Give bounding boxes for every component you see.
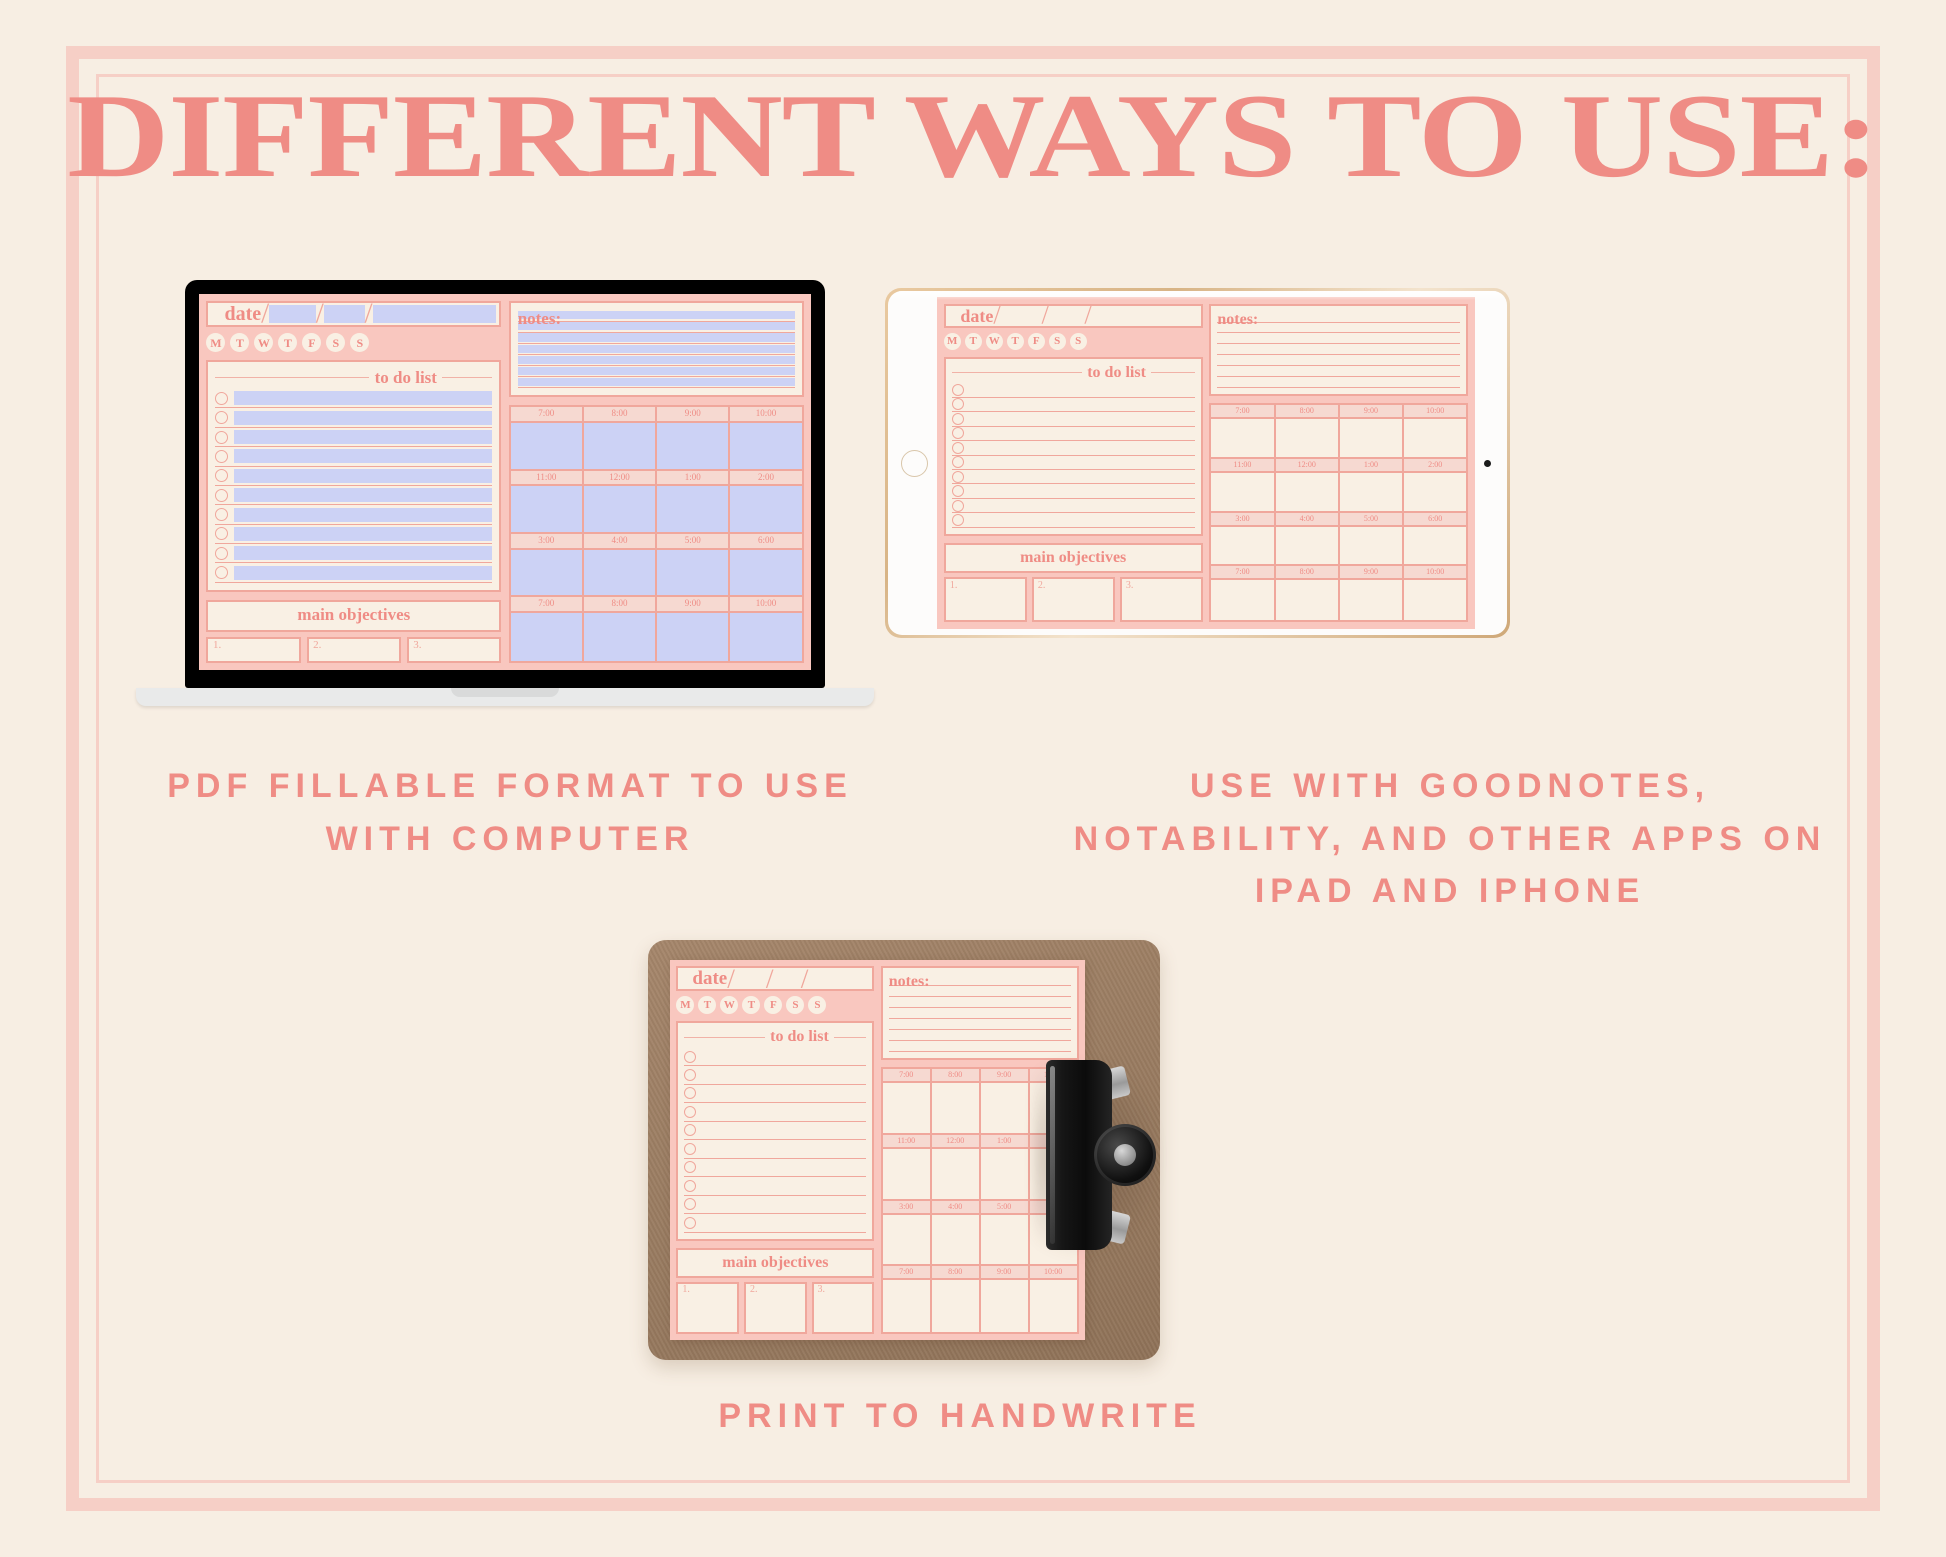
notes-line[interactable] (1217, 377, 1460, 388)
todo-row[interactable] (215, 447, 492, 466)
planner-left-column: date///MTWTFSSto do listmain objectives1… (676, 966, 874, 1333)
time-grid: 7:008:009:0010:0011:0012:001:002:003:004… (509, 405, 804, 662)
objective-number-2: 2. (1038, 581, 1046, 591)
todo-row[interactable] (684, 1140, 866, 1158)
todo-checkbox-icon[interactable] (952, 413, 964, 425)
time-label: 9:00 (1340, 405, 1404, 417)
date-year-input[interactable] (373, 305, 497, 323)
time-slot-input[interactable] (657, 613, 730, 661)
todo-checkbox-icon[interactable] (684, 1180, 696, 1192)
date-day-input[interactable] (1049, 308, 1085, 324)
time-slot-input[interactable] (1340, 580, 1404, 620)
time-slot-input[interactable] (1276, 419, 1340, 457)
todo-row[interactable] (215, 486, 492, 505)
time-slot-input[interactable] (657, 423, 730, 469)
time-slot-input[interactable] (1030, 1280, 1077, 1332)
notes-text-input[interactable] (518, 345, 795, 353)
time-slot-input[interactable] (981, 1280, 1030, 1332)
todo-text-input[interactable] (234, 430, 492, 444)
notes-line[interactable] (1217, 355, 1460, 366)
notes-line[interactable] (518, 366, 795, 377)
time-label: 12:00 (932, 1135, 981, 1147)
todo-list-title: to do list (375, 369, 437, 386)
notes-text-input[interactable] (1217, 345, 1460, 353)
todo-row[interactable] (952, 470, 1195, 484)
date-month-input[interactable] (735, 970, 766, 987)
notes-text-input[interactable] (518, 356, 795, 364)
todo-checkbox-icon[interactable] (684, 1106, 696, 1118)
notes-text-input[interactable] (518, 367, 795, 375)
planner-page: date///MTWTFSSto do listmain objectives1… (199, 294, 811, 670)
weekday-3[interactable]: T (1007, 333, 1024, 350)
time-label: 6:00 (1404, 513, 1466, 525)
notes-text-input[interactable] (889, 1020, 1071, 1028)
todo-row[interactable] (215, 467, 492, 486)
time-label: 4:00 (932, 1201, 981, 1213)
weekday-4[interactable]: F (764, 996, 782, 1014)
main-objectives-section: main objectives1.2.3. (676, 1248, 874, 1334)
todo-rows (215, 389, 492, 583)
todo-checkbox-icon[interactable] (684, 1051, 696, 1063)
todo-list-title: to do list (1087, 365, 1146, 381)
time-grid-cell-row (511, 550, 802, 598)
time-slot-input[interactable] (584, 486, 657, 532)
ipad-body: date///MTWTFSSto do listmain objectives1… (888, 291, 1507, 635)
time-label: 8:00 (932, 1266, 981, 1278)
time-slot-input[interactable] (1404, 473, 1466, 511)
time-label: 8:00 (1276, 566, 1340, 578)
weekday-0[interactable]: M (944, 333, 961, 350)
objective-number-3: 3. (818, 1285, 826, 1295)
time-slot-input[interactable] (1211, 527, 1275, 565)
time-slot-input[interactable] (932, 1280, 981, 1332)
date-month-input[interactable] (269, 305, 316, 323)
notes-line[interactable] (518, 333, 795, 344)
notes-title: notes: (889, 974, 930, 990)
date-label: date (208, 304, 261, 324)
time-slot-input[interactable] (730, 550, 801, 596)
todo-checkbox-icon[interactable] (952, 514, 964, 526)
notes-card: notes: (881, 966, 1079, 1060)
time-slot-input[interactable] (1276, 473, 1340, 511)
time-slot-input[interactable] (1404, 419, 1466, 457)
time-slot-input[interactable] (981, 1215, 1030, 1265)
notes-text-input[interactable] (889, 1042, 1071, 1050)
todo-rule-right (834, 1037, 867, 1038)
time-grid-cell-row (511, 423, 802, 471)
time-label: 9:00 (657, 597, 730, 611)
time-slot-input[interactable] (883, 1280, 932, 1332)
notes-lines[interactable]: notes: (1217, 312, 1460, 388)
objective-input-1[interactable]: 1. (206, 637, 301, 663)
notes-text-input[interactable] (1217, 334, 1460, 342)
time-slot-input[interactable] (932, 1149, 981, 1199)
todo-checkbox-icon[interactable] (215, 450, 228, 463)
time-slot-input[interactable] (1211, 473, 1275, 511)
main-objectives-title: main objectives (1020, 549, 1126, 566)
time-grid-header-row: 7:008:009:0010:00 (1211, 566, 1466, 580)
time-label: 7:00 (511, 407, 584, 421)
clip-knob (1094, 1124, 1156, 1186)
objective-input-2[interactable]: 2. (307, 637, 402, 663)
time-label: 1:00 (981, 1135, 1030, 1147)
weekday-4[interactable]: F (1028, 333, 1045, 350)
date-slash-1: / (727, 965, 735, 993)
weekday-3[interactable]: T (742, 996, 760, 1014)
time-grid-cell-row (1211, 527, 1466, 567)
todo-checkbox-icon[interactable] (684, 1069, 696, 1081)
time-label: 11:00 (511, 471, 584, 485)
notes-text-input[interactable] (1217, 378, 1460, 386)
clip-highlight (1050, 1066, 1055, 1244)
time-slot-input[interactable] (511, 423, 584, 469)
date-day-input[interactable] (774, 970, 801, 987)
time-slot-input[interactable] (584, 423, 657, 469)
time-grid-cell-row (883, 1280, 1077, 1332)
todo-list-header: to do list (684, 1029, 866, 1045)
todo-checkbox-icon[interactable] (215, 566, 228, 579)
todo-row[interactable] (684, 1103, 866, 1121)
time-grid-header-row: 7:008:009:0010:00 (1211, 405, 1466, 419)
time-slot-input[interactable] (1404, 527, 1466, 565)
weekday-0[interactable]: M (206, 333, 225, 352)
main-objectives-title: main objectives (297, 605, 410, 624)
notes-text-input[interactable] (518, 333, 795, 341)
time-grid-cell-row (511, 613, 802, 661)
todo-row[interactable] (684, 1048, 866, 1066)
todo-list-header: to do list (952, 365, 1195, 381)
weekday-4[interactable]: F (302, 333, 321, 352)
todo-rule-left (215, 377, 369, 378)
todo-row[interactable] (952, 398, 1195, 412)
time-slot-input[interactable] (1211, 419, 1275, 457)
date-slash-1: / (993, 302, 1000, 328)
time-slot-input[interactable] (883, 1215, 932, 1265)
todo-rows (684, 1048, 866, 1233)
main-objectives-section: main objectives1.2.3. (944, 543, 1203, 623)
objective-number-2: 2. (750, 1285, 758, 1295)
clipboard-paper: date///MTWTFSSto do listmain objectives1… (670, 960, 1085, 1340)
time-slot-input[interactable] (657, 486, 730, 532)
time-label: 4:00 (584, 534, 657, 548)
todo-text-input[interactable] (234, 469, 492, 483)
date-year-input[interactable] (808, 970, 869, 987)
clipboard-mockup: date///MTWTFSSto do listmain objectives1… (648, 940, 1160, 1360)
time-label: 8:00 (584, 597, 657, 611)
time-grid-header-row: 3:004:005:006:00 (511, 534, 802, 550)
todo-text-input[interactable] (234, 391, 492, 405)
date-year-input[interactable] (1092, 308, 1198, 324)
notes-title: notes: (1217, 312, 1258, 328)
objective-number-1: 1. (213, 640, 221, 651)
time-grid-cell-row (511, 486, 802, 534)
todo-row[interactable] (684, 1159, 866, 1177)
objective-number-1: 1. (950, 581, 958, 591)
time-label: 2:00 (1404, 459, 1466, 471)
todo-row[interactable] (215, 428, 492, 447)
time-slot-input[interactable] (511, 613, 584, 661)
notes-line[interactable] (518, 377, 795, 388)
notes-lines[interactable]: notes: (518, 310, 795, 388)
time-label: 10:00 (1404, 405, 1466, 417)
todo-text-input[interactable] (234, 527, 492, 541)
notes-line[interactable] (889, 1030, 1071, 1041)
time-grid-cell-row (1211, 419, 1466, 459)
todo-list-card: to do list (206, 360, 501, 592)
ipad-mockup: date///MTWTFSSto do listmain objectives1… (885, 288, 1510, 638)
main-objectives-title-box: main objectives (206, 600, 501, 632)
date-field-group[interactable]: date/// (676, 966, 874, 991)
time-slot-input[interactable] (932, 1215, 981, 1265)
todo-checkbox-icon[interactable] (952, 485, 964, 497)
time-slot-input[interactable] (883, 1149, 932, 1199)
main-objectives-boxes: 1.2.3. (676, 1282, 874, 1334)
weekday-3[interactable]: T (278, 333, 297, 352)
time-slot-input[interactable] (932, 1083, 981, 1133)
todo-checkbox-icon[interactable] (215, 392, 228, 405)
weekday-0[interactable]: M (676, 996, 694, 1014)
time-grid-block: 7:008:009:0010:00 (1211, 405, 1466, 459)
todo-row[interactable] (215, 544, 492, 563)
time-slot-input[interactable] (584, 613, 657, 661)
weekday-6[interactable]: S (350, 333, 369, 352)
notes-line[interactable] (1217, 366, 1460, 377)
objective-input-2[interactable]: 2. (744, 1282, 807, 1334)
time-label: 12:00 (584, 471, 657, 485)
todo-rule-left (952, 372, 1082, 373)
weekday-2[interactable]: W (254, 333, 273, 352)
time-label: 6:00 (730, 534, 801, 548)
time-slot-input[interactable] (1276, 527, 1340, 565)
time-label: 9:00 (1340, 566, 1404, 578)
todo-checkbox-icon[interactable] (952, 456, 964, 468)
todo-checkbox-icon[interactable] (215, 431, 228, 444)
weekday-5[interactable]: S (1049, 333, 1066, 350)
date-label: date (946, 307, 994, 325)
todo-text-input[interactable] (234, 566, 492, 580)
notes-text-input[interactable] (889, 1009, 1071, 1017)
time-label: 8:00 (1276, 405, 1340, 417)
weekday-selector[interactable]: MTWTFSS (676, 996, 874, 1014)
todo-row[interactable] (215, 505, 492, 524)
todo-checkbox-icon[interactable] (684, 1087, 696, 1099)
notes-text-input[interactable] (518, 378, 795, 386)
todo-text-input[interactable] (234, 508, 492, 522)
time-label: 5:00 (657, 534, 730, 548)
todo-checkbox-icon[interactable] (684, 1161, 696, 1173)
todo-rule-left (684, 1037, 765, 1038)
time-slot-input[interactable] (511, 550, 584, 596)
objective-input-1[interactable]: 1. (676, 1282, 739, 1334)
time-label: 5:00 (981, 1201, 1030, 1213)
todo-row[interactable] (952, 456, 1195, 470)
todo-rule-right (1151, 372, 1195, 373)
time-grid-cell-row (1211, 580, 1466, 620)
notes-line[interactable] (1217, 344, 1460, 355)
time-label: 12:00 (1276, 459, 1340, 471)
time-grid-block: 3:004:005:006:00 (511, 534, 802, 597)
laptop-mockup: date///MTWTFSSto do listmain objectives1… (185, 280, 825, 706)
time-label: 11:00 (1211, 459, 1275, 471)
todo-text-input[interactable] (234, 411, 492, 425)
objective-input-3[interactable]: 3. (407, 637, 502, 663)
todo-checkbox-icon[interactable] (215, 508, 228, 521)
ipad-camera-icon (1484, 460, 1491, 467)
date-slash-3: / (1084, 302, 1091, 328)
todo-row[interactable] (215, 408, 492, 427)
time-slot-input[interactable] (883, 1083, 932, 1133)
todo-list-card: to do list (944, 357, 1203, 536)
todo-checkbox-icon[interactable] (684, 1124, 696, 1136)
date-field-group[interactable]: date/// (944, 304, 1203, 328)
time-label: 7:00 (1211, 405, 1275, 417)
time-slot-input[interactable] (1340, 473, 1404, 511)
todo-row[interactable] (952, 441, 1195, 455)
todo-checkbox-icon[interactable] (952, 471, 964, 483)
todo-row[interactable] (684, 1085, 866, 1103)
weekday-selector[interactable]: MTWTFSS (944, 333, 1203, 350)
caption-laptop: PDF FILLABLE FORMAT TO USE WITH COMPUTER (150, 760, 870, 865)
time-slot-input[interactable] (511, 486, 584, 532)
time-label: 3:00 (511, 534, 584, 548)
notes-text-input[interactable] (1217, 367, 1460, 375)
time-slot-input[interactable] (730, 486, 801, 532)
time-slot-input[interactable] (981, 1083, 1030, 1133)
planner-right-column: notes:7:008:009:0010:0011:0012:001:002:0… (509, 301, 804, 662)
weekday-6[interactable]: S (1070, 333, 1087, 350)
date-day-input[interactable] (324, 305, 365, 323)
weekday-2[interactable]: W (986, 333, 1003, 350)
notes-text-input[interactable] (1217, 356, 1460, 364)
notes-line[interactable] (889, 1008, 1071, 1019)
todo-row[interactable] (952, 484, 1195, 498)
todo-row[interactable] (684, 1066, 866, 1084)
planner-page: date///MTWTFSSto do listmain objectives1… (670, 960, 1085, 1340)
todo-row[interactable] (952, 513, 1195, 527)
todo-row[interactable] (952, 499, 1195, 513)
weekday-1[interactable]: T (698, 996, 716, 1014)
todo-checkbox-icon[interactable] (215, 547, 228, 560)
time-slot-input[interactable] (730, 423, 801, 469)
laptop-base (136, 688, 874, 706)
time-label: 3:00 (1211, 513, 1275, 525)
time-label: 2:00 (730, 471, 801, 485)
objective-input-2[interactable]: 2. (1032, 577, 1115, 622)
notes-line[interactable] (518, 344, 795, 355)
time-grid: 7:008:009:0010:0011:0012:001:002:003:004… (1209, 403, 1468, 623)
objective-input-3[interactable]: 3. (1120, 577, 1203, 622)
notes-text-input[interactable] (889, 997, 1071, 1005)
planner-left-column: date///MTWTFSSto do listmain objectives1… (206, 301, 501, 662)
time-slot-input[interactable] (657, 550, 730, 596)
todo-row[interactable] (684, 1122, 866, 1140)
notes-line[interactable] (1217, 333, 1460, 344)
todo-checkbox-icon[interactable] (215, 527, 228, 540)
todo-row[interactable] (684, 1196, 866, 1214)
ipad-screen: date///MTWTFSSto do listmain objectives1… (937, 297, 1475, 629)
time-slot-input[interactable] (1340, 419, 1404, 457)
todo-row[interactable] (684, 1214, 866, 1232)
weekday-1[interactable]: T (965, 333, 982, 350)
todo-checkbox-icon[interactable] (684, 1198, 696, 1210)
todo-row[interactable] (215, 563, 492, 582)
weekday-2[interactable]: W (720, 996, 738, 1014)
todo-checkbox-icon[interactable] (684, 1217, 696, 1229)
time-label: 7:00 (883, 1266, 932, 1278)
todo-checkbox-icon[interactable] (215, 469, 228, 482)
time-grid-header-row: 7:008:009:0010:00 (511, 407, 802, 423)
caption-ipad: USE WITH GOODNOTES, NOTABILITY, AND OTHE… (1060, 760, 1840, 918)
page-title: DIFFERENT WAYS TO USE: (0, 76, 1946, 196)
clipboard-clip[interactable] (1046, 1060, 1146, 1250)
weekday-1[interactable]: T (230, 333, 249, 352)
time-label: 1:00 (657, 471, 730, 485)
todo-row[interactable] (952, 383, 1195, 397)
main-objectives-title-box: main objectives (944, 543, 1203, 573)
time-slot-input[interactable] (1276, 580, 1340, 620)
time-label: 5:00 (1340, 513, 1404, 525)
ipad-home-button[interactable] (901, 450, 928, 477)
time-slot-input[interactable] (730, 613, 801, 661)
todo-row[interactable] (952, 427, 1195, 441)
planner-page: date///MTWTFSSto do listmain objectives1… (937, 297, 1475, 629)
todo-checkbox-icon[interactable] (952, 500, 964, 512)
weekday-5[interactable]: S (326, 333, 345, 352)
todo-row[interactable] (215, 389, 492, 408)
time-label: 8:00 (932, 1069, 981, 1081)
todo-text-input[interactable] (234, 449, 492, 463)
time-slot-input[interactable] (981, 1149, 1030, 1199)
todo-checkbox-icon[interactable] (952, 398, 964, 410)
weekday-6[interactable]: S (808, 996, 826, 1014)
todo-checkbox-icon[interactable] (952, 442, 964, 454)
time-slot-input[interactable] (584, 550, 657, 596)
date-month-input[interactable] (1001, 308, 1042, 324)
todo-checkbox-icon[interactable] (215, 411, 228, 424)
weekday-selector[interactable]: MTWTFSS (206, 333, 501, 352)
notes-line[interactable] (889, 1041, 1071, 1052)
todo-row[interactable] (684, 1177, 866, 1195)
notes-line[interactable] (518, 355, 795, 366)
time-slot-input[interactable] (1340, 527, 1404, 565)
time-slot-input[interactable] (1211, 580, 1275, 620)
todo-checkbox-icon[interactable] (952, 384, 964, 396)
todo-checkbox-icon[interactable] (215, 489, 228, 502)
notes-line[interactable] (889, 1019, 1071, 1030)
weekday-5[interactable]: S (786, 996, 804, 1014)
time-slot-input[interactable] (1404, 580, 1466, 620)
todo-text-input[interactable] (234, 546, 492, 560)
time-label: 10:00 (1404, 566, 1466, 578)
notes-line[interactable] (889, 997, 1071, 1008)
time-label: 7:00 (1211, 566, 1275, 578)
todo-row[interactable] (215, 525, 492, 544)
time-grid-cell-row (1211, 473, 1466, 513)
date-slash-2: / (1041, 302, 1048, 328)
todo-list-card: to do list (676, 1021, 874, 1240)
objective-input-3[interactable]: 3. (812, 1282, 875, 1334)
date-field-group[interactable]: date/// (206, 301, 501, 327)
notes-lines[interactable]: notes: (889, 974, 1071, 1052)
date-slash-3: / (801, 965, 809, 993)
todo-row[interactable] (952, 412, 1195, 426)
objective-input-1[interactable]: 1. (944, 577, 1027, 622)
notes-text-input[interactable] (889, 1031, 1071, 1039)
time-grid-block: 7:008:009:0010:00 (1211, 566, 1466, 620)
todo-text-input[interactable] (234, 488, 492, 502)
todo-checkbox-icon[interactable] (952, 427, 964, 439)
todo-checkbox-icon[interactable] (684, 1143, 696, 1155)
